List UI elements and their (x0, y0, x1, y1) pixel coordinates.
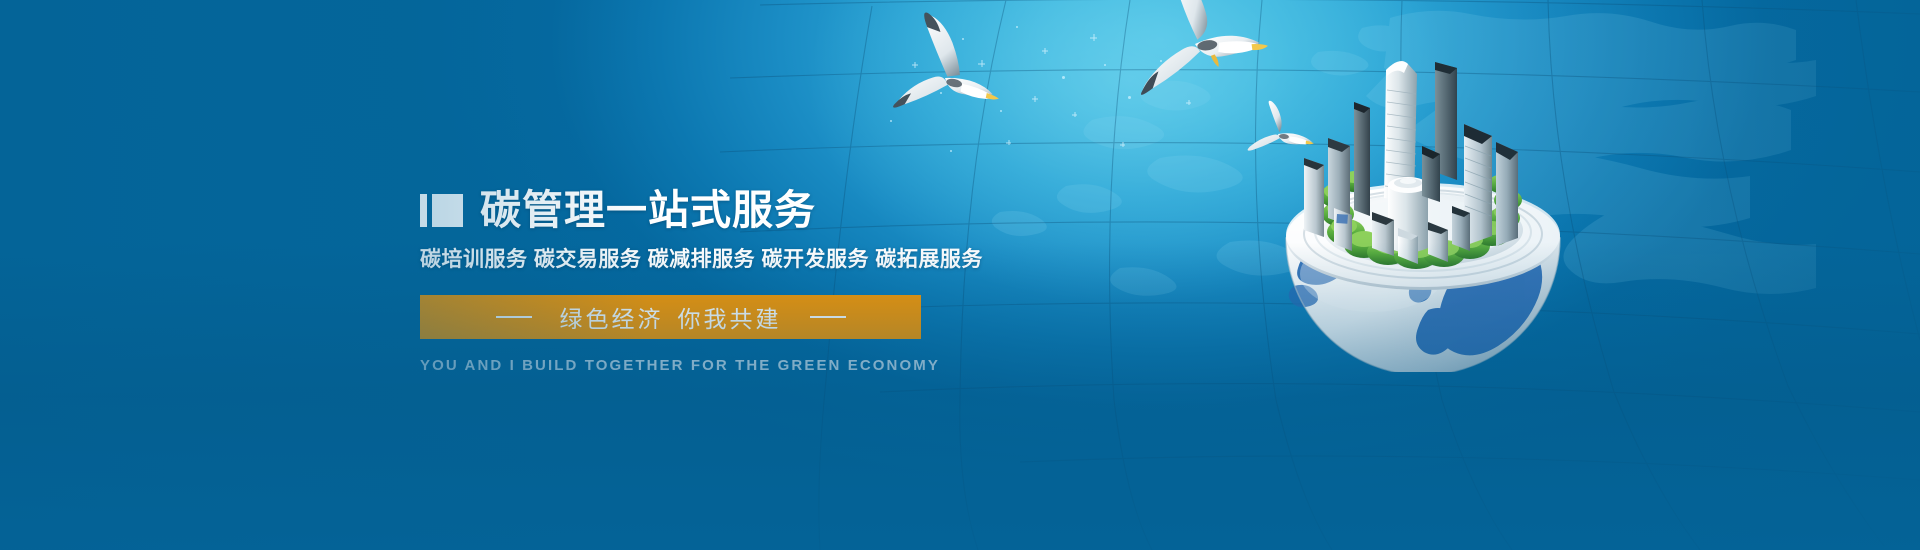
slogan-bar: 绿色经济你我共建 (420, 295, 921, 339)
slogan-text: 绿色经济你我共建 (560, 300, 782, 334)
english-tagline: YOU AND I BUILD TOGETHER FOR THE GREEN E… (420, 357, 921, 374)
mark-bar (420, 194, 427, 227)
slogan-rule-right (810, 316, 846, 318)
bar-square-mark-icon (420, 194, 463, 227)
page-title: 碳管理一站式服务 (480, 190, 816, 231)
slogan-secondary: 你我共建 (678, 306, 782, 332)
earth-hemisphere-with-city-illustration (1268, 42, 1578, 372)
headline-row: 碳管理一站式服务 (420, 186, 1020, 234)
seagull-middle (1125, 0, 1273, 95)
slogan-primary: 绿色经济 (560, 306, 664, 332)
city-skyline (1304, 61, 1518, 264)
mark-square (432, 194, 463, 227)
service-list: 碳培训服务 碳交易服务 碳减排服务 碳开发服务 碳拓展服务 (420, 243, 1020, 273)
carbon-management-banner: 碳管理一站式服务 碳培训服务 碳交易服务 碳减排服务 碳开发服务 碳拓展服务 绿… (0, 0, 1920, 550)
seagull-left (893, 10, 1013, 129)
slogan-rule-left (496, 316, 532, 318)
banner-text-content: 碳管理一站式服务 碳培训服务 碳交易服务 碳减排服务 碳开发服务 碳拓展服务 绿… (420, 186, 1020, 374)
